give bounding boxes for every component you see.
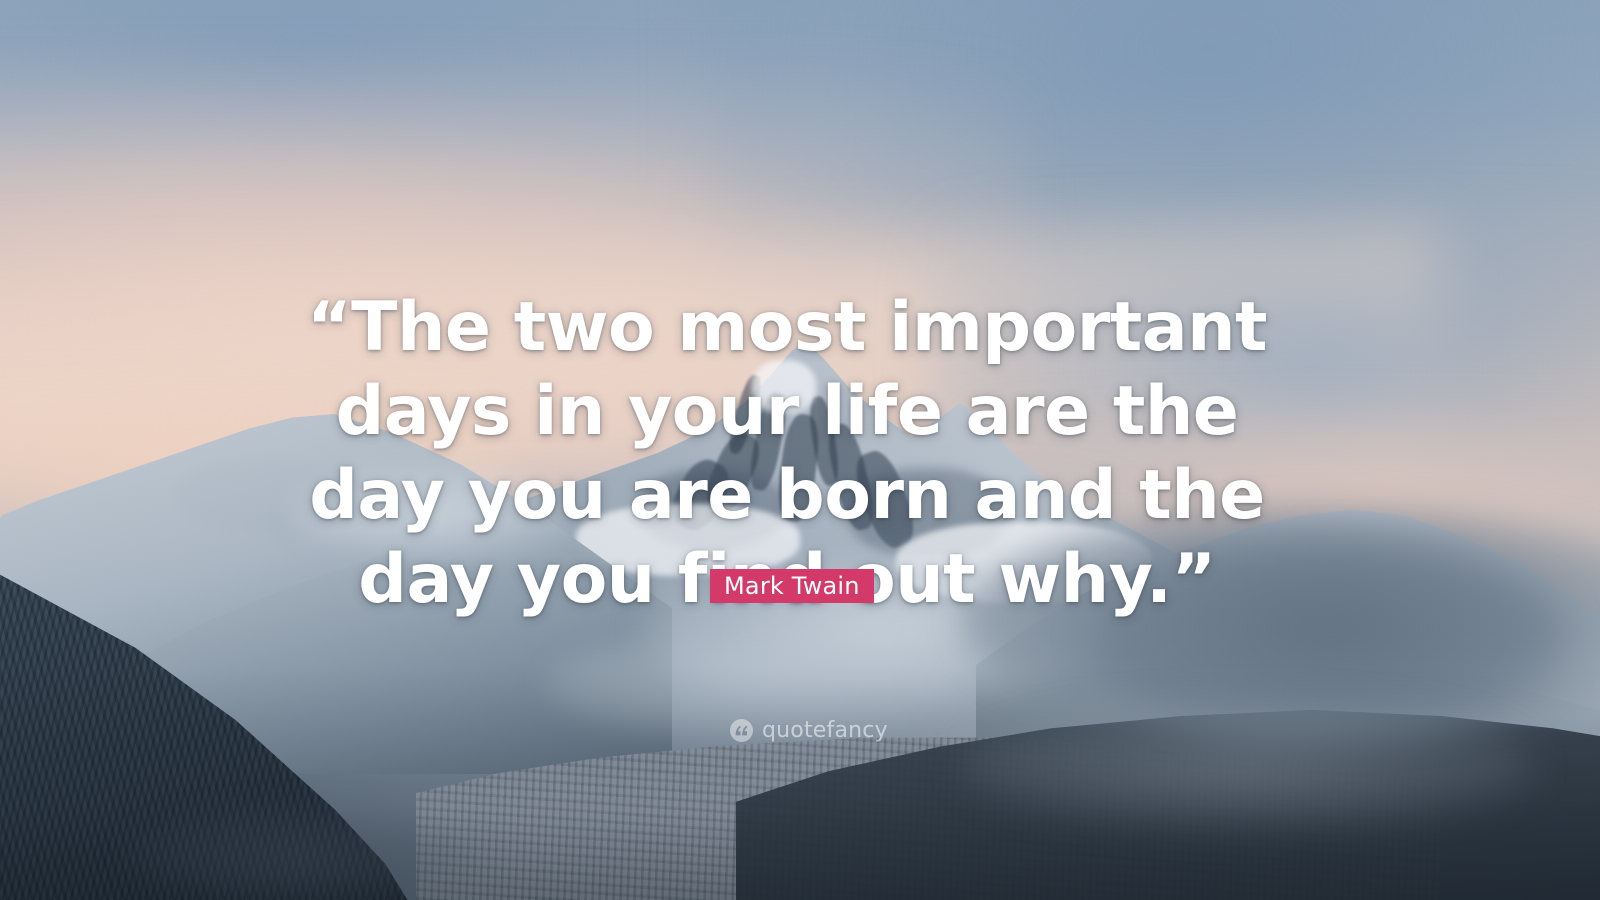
author-name: Mark Twain [724,572,860,600]
content-overlay: “The two most important days in your lif… [0,0,1600,900]
author-badge: Mark Twain [710,569,874,603]
watermark-brand: quotefancy [762,720,888,742]
quote-mark-icon [730,719,753,742]
watermark[interactable]: quotefancy [730,719,888,742]
quote-poster: “The two most important days in your lif… [0,0,1600,900]
